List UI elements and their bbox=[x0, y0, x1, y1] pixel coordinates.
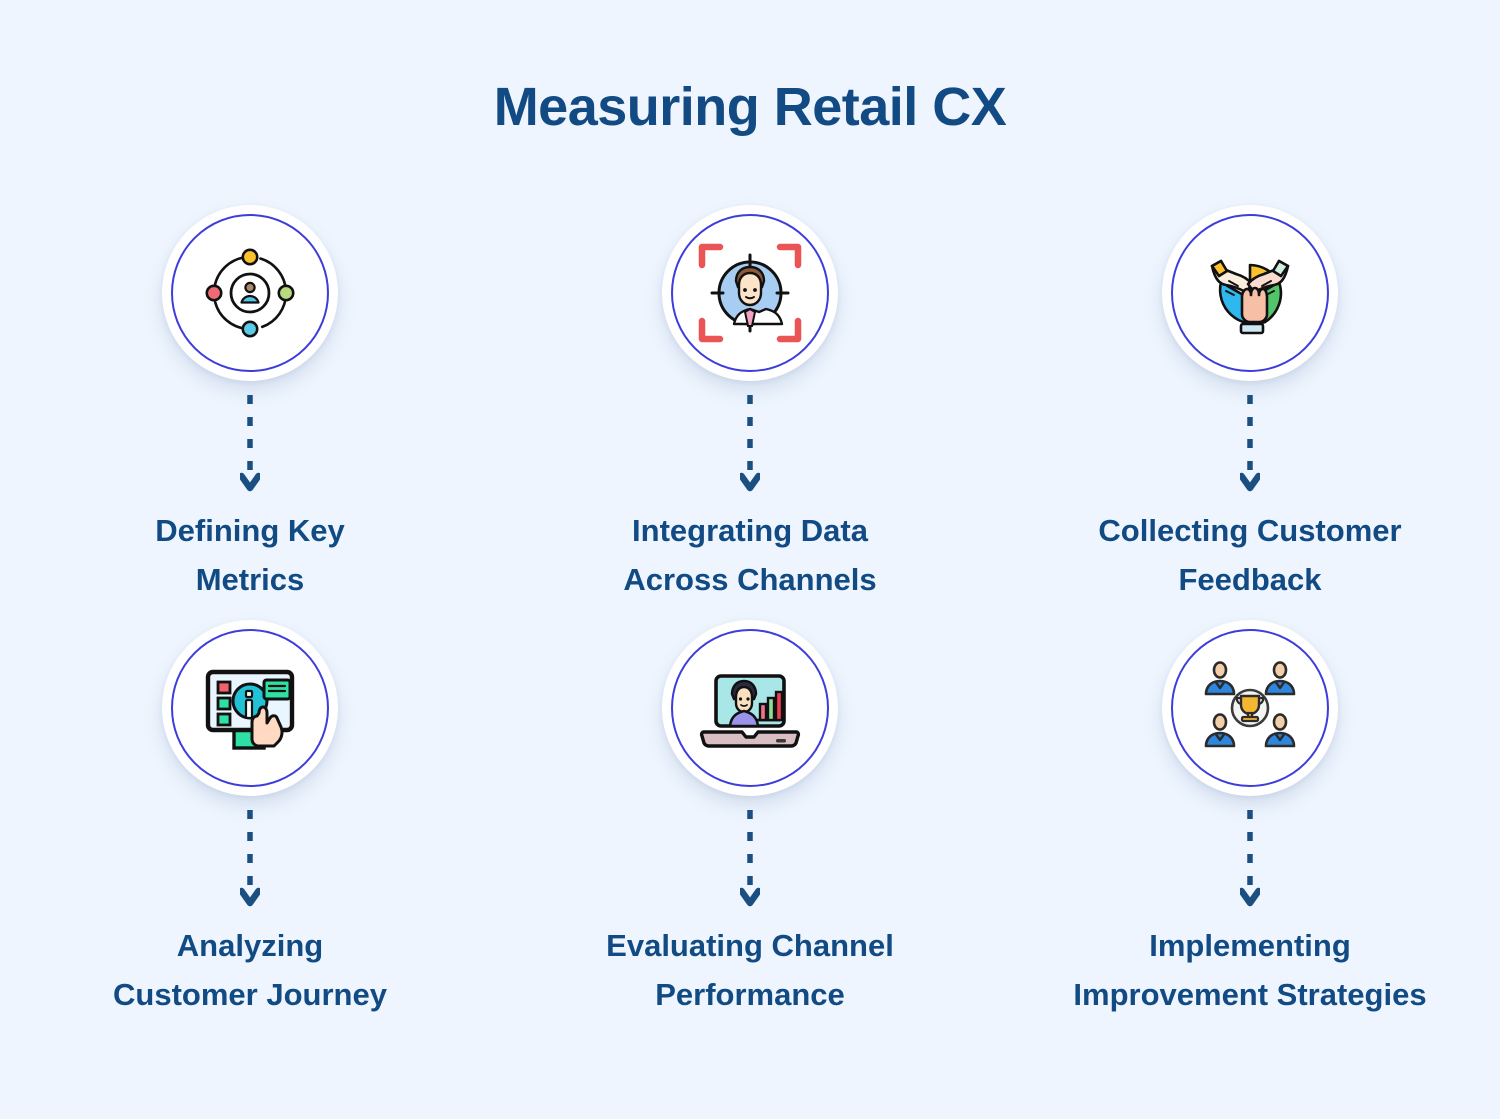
node-label: Implementing Improvement Strategies bbox=[1015, 922, 1485, 1020]
icon-badge[interactable] bbox=[162, 205, 338, 381]
icon-badge[interactable] bbox=[1162, 620, 1338, 796]
node-implementing-improvement-strategies[interactable]: Implementing Improvement Strategies bbox=[1000, 620, 1500, 1035]
icon-badge[interactable] bbox=[662, 205, 838, 381]
node-evaluating-channel-performance[interactable]: Evaluating Channel Performance bbox=[500, 620, 1000, 1035]
connector-arrow-down bbox=[740, 808, 760, 916]
node-label: Analyzing Customer Journey bbox=[15, 922, 485, 1020]
laptop-presenter-barchart-icon bbox=[696, 654, 804, 762]
customer-orbit-metrics-icon bbox=[196, 239, 304, 347]
touchscreen-info-hand-icon bbox=[196, 654, 304, 762]
node-collecting-customer-feedback[interactable]: Collecting Customer Feedback bbox=[1000, 205, 1500, 620]
node-label: Defining Key Metrics bbox=[15, 507, 485, 605]
connector-arrow-down bbox=[1240, 393, 1260, 501]
icon-badge[interactable] bbox=[1162, 205, 1338, 381]
connector-arrow-down bbox=[240, 393, 260, 501]
connector-arrow-down bbox=[740, 393, 760, 501]
node-defining-key-metrics[interactable]: Defining Key Metrics bbox=[0, 205, 500, 620]
node-integrating-data-across-channels[interactable]: Integrating Data Across Channels bbox=[500, 205, 1000, 620]
node-label: Integrating Data Across Channels bbox=[515, 507, 985, 605]
customer-target-focus-icon bbox=[696, 239, 804, 347]
team-trophy-award-icon bbox=[1196, 654, 1304, 762]
connector-arrow-down bbox=[240, 808, 260, 916]
infographic-canvas: Measuring Retail CX Definin bbox=[0, 0, 1500, 1119]
page-title: Measuring Retail CX bbox=[0, 78, 1500, 137]
node-grid: Defining Key Metrics bbox=[0, 205, 1500, 1035]
hands-together-teamwork-icon bbox=[1196, 239, 1304, 347]
node-label: Evaluating Channel Performance bbox=[515, 922, 985, 1020]
icon-badge[interactable] bbox=[662, 620, 838, 796]
icon-badge[interactable] bbox=[162, 620, 338, 796]
node-analyzing-customer-journey[interactable]: Analyzing Customer Journey bbox=[0, 620, 500, 1035]
node-label: Collecting Customer Feedback bbox=[1015, 507, 1485, 605]
connector-arrow-down bbox=[1240, 808, 1260, 916]
